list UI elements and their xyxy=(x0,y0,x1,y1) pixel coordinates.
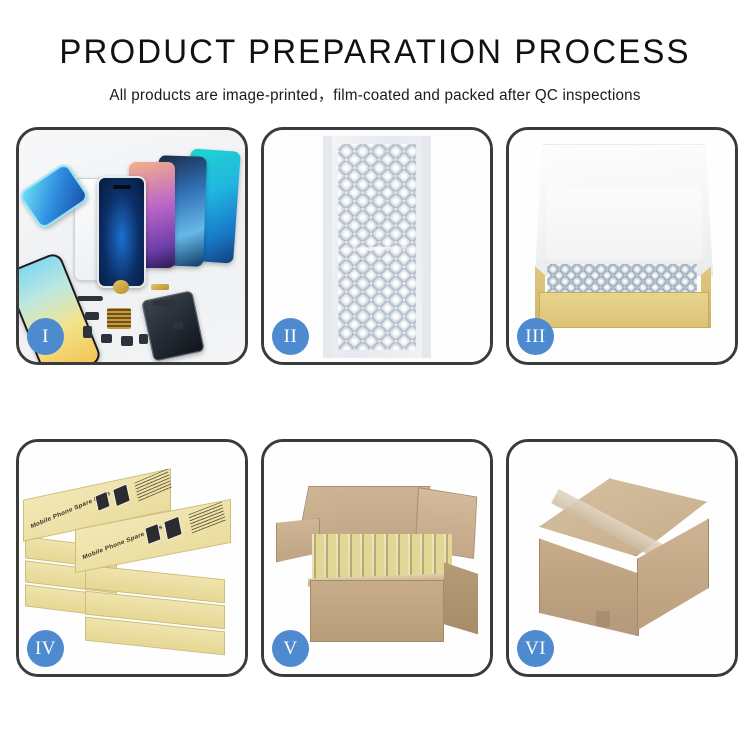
gold-coil-icon xyxy=(113,280,129,294)
box-spec-lines xyxy=(188,502,225,534)
process-step-1: I xyxy=(16,127,248,365)
camera-module-icon xyxy=(85,312,99,320)
box-screen-image xyxy=(144,523,161,545)
box-spec-lines xyxy=(134,469,171,502)
process-step-grid: I II III xyxy=(12,127,738,677)
process-step-2: II xyxy=(261,127,493,365)
process-step-6: VI xyxy=(506,439,738,677)
page-subtitle: All products are image-printed，film-coat… xyxy=(8,83,743,105)
page-header: PRODUCT PREPARATION PROCESS All products… xyxy=(0,0,750,105)
carton-side-panel xyxy=(444,562,478,634)
connector-grid-icon xyxy=(107,308,131,329)
page-title: PRODUCT PREPARATION PROCESS xyxy=(11,34,739,71)
bubble-wrap-pouch xyxy=(323,136,431,358)
process-step-4: Mobile Phone Spare Parts Mobile Phone Sp… xyxy=(16,439,248,677)
carton-tab xyxy=(596,611,610,627)
box-screen-image xyxy=(112,484,131,508)
sim-tray-icon xyxy=(83,326,92,338)
vibrator-icon xyxy=(101,334,112,343)
speaker-mesh-icon xyxy=(77,296,103,301)
box-screen-image xyxy=(163,516,183,541)
screw-set-icon xyxy=(173,322,183,329)
small-ic-icon xyxy=(139,334,148,344)
process-step-3: III xyxy=(506,127,738,365)
phone-front-display-icon xyxy=(97,176,146,288)
carton-front-panel xyxy=(539,538,639,636)
taptic-engine-icon xyxy=(121,336,133,346)
flex-cable-icon xyxy=(153,300,175,306)
flex-cable-gold-icon xyxy=(151,284,169,290)
process-step-5: V xyxy=(261,439,493,677)
carton-front-panel xyxy=(310,580,444,642)
loose-parts-group xyxy=(77,278,207,358)
box-front-panel xyxy=(539,292,709,328)
foam-padding xyxy=(543,186,705,264)
